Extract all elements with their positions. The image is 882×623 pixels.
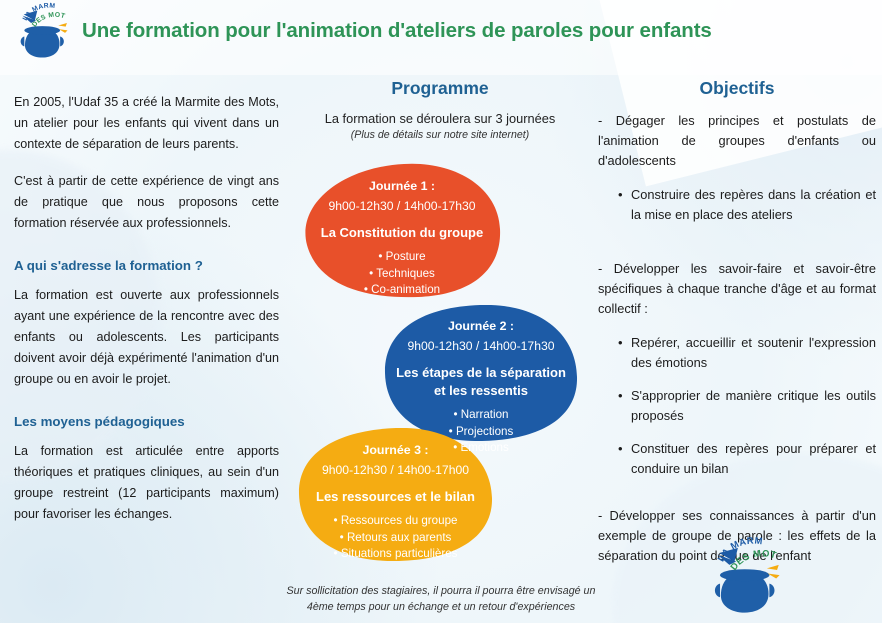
day-3-item: Retours aux parents [308, 530, 483, 547]
day-3-item: Situations particulières [308, 546, 483, 563]
day-1-label: Journée 1 : [312, 179, 492, 193]
objectif-bullet: S'approprier de manière critique les out… [618, 386, 876, 426]
intro-paragraph-2: C'est à partir de cette expérience de vi… [14, 171, 279, 234]
spacer [598, 497, 876, 506]
methods-paragraph: La formation est articulée entre apports… [14, 441, 279, 525]
right-column: Objectifs - Dégager les principes et pos… [598, 78, 876, 580]
day-2-label: Journée 2 : [396, 319, 566, 333]
left-heading-audience: A qui s'adresse la formation ? [14, 258, 279, 273]
programme-lead: La formation se déroulera sur 3 journées [290, 111, 590, 126]
marmite-des-mots-logo-icon: LA MARMITE DES MOTS [10, 2, 72, 60]
day-3-items: Ressources du groupe Retours aux parents… [308, 513, 483, 563]
day-1-item: Posture [312, 249, 492, 266]
programme-footnote: Sur sollicitation des stagiaires, il pou… [285, 583, 597, 615]
objectif-bullets-1: Construire des repères dans la création … [598, 185, 876, 225]
day-2-item: Narration [396, 407, 566, 424]
poster-page: LA MARMITE DES MOTS Une formation pour l… [0, 0, 882, 623]
programme-sublead: (Plus de détails sur notre site internet… [290, 129, 590, 141]
audience-paragraph: La formation est ouverte aux professionn… [14, 285, 279, 390]
day-1-topic: La Constitution du groupe [312, 224, 492, 242]
day-2-topic: Les étapes de la séparation et les resse… [396, 364, 566, 400]
page-title: Une formation pour l'animation d'atelier… [82, 19, 712, 43]
objectif-dash-2: - Développer les savoir-faire et savoir-… [598, 259, 876, 319]
page-header: LA MARMITE DES MOTS Une formation pour l… [0, 0, 882, 62]
day-blob-3: Journée 3 : 9h00-12h30 / 14h00-17h00 Les… [298, 428, 493, 561]
programme-title: Programme [290, 78, 590, 99]
objectifs-title: Objectifs [598, 78, 876, 99]
spacer [598, 243, 876, 259]
day-blob-1: Journée 1 : 9h00-12h30 / 14h00-17h30 La … [302, 163, 502, 298]
objectif-dash-1: - Dégager les principes et postulats de … [598, 111, 876, 171]
day-1-time: 9h00-12h30 / 14h00-17h30 [312, 199, 492, 213]
day-1-item: Techniques [312, 266, 492, 283]
objectif-bullet: Construire des repères dans la création … [618, 185, 876, 225]
middle-column: Programme La formation se déroulera sur … [290, 78, 590, 141]
left-column: En 2005, l'Udaf 35 a créé la Marmite des… [14, 92, 279, 541]
programme-days-blobs: Journée 1 : 9h00-12h30 / 14h00-17h30 La … [288, 163, 593, 563]
objectif-bullet: Constituer des repères pour préparer et … [618, 439, 876, 479]
intro-paragraph-1: En 2005, l'Udaf 35 a créé la Marmite des… [14, 92, 279, 155]
day-1-items: Posture Techniques Co-animation [312, 249, 492, 299]
day-3-item: Ressources du groupe [308, 513, 483, 530]
day-1-item: Co-animation [312, 282, 492, 299]
objectif-bullet: Repérer, accueillir et soutenir l'expres… [618, 333, 876, 373]
day-blob-2: Journée 2 : 9h00-12h30 / 14h00-17h30 Les… [384, 305, 578, 441]
day-3-time: 9h00-12h30 / 14h00-17h00 [308, 463, 483, 477]
day-3-topic: Les ressources et le bilan [308, 488, 483, 506]
marmite-des-mots-logo-footer-icon: LA MARMITE DES MOTS [700, 536, 786, 616]
day-2-time: 9h00-12h30 / 14h00-17h30 [396, 339, 566, 353]
objectif-bullets-2: Repérer, accueillir et soutenir l'expres… [598, 333, 876, 479]
day-3-label: Journée 3 : [308, 443, 483, 457]
left-heading-methods: Les moyens pédagogiques [14, 414, 279, 429]
